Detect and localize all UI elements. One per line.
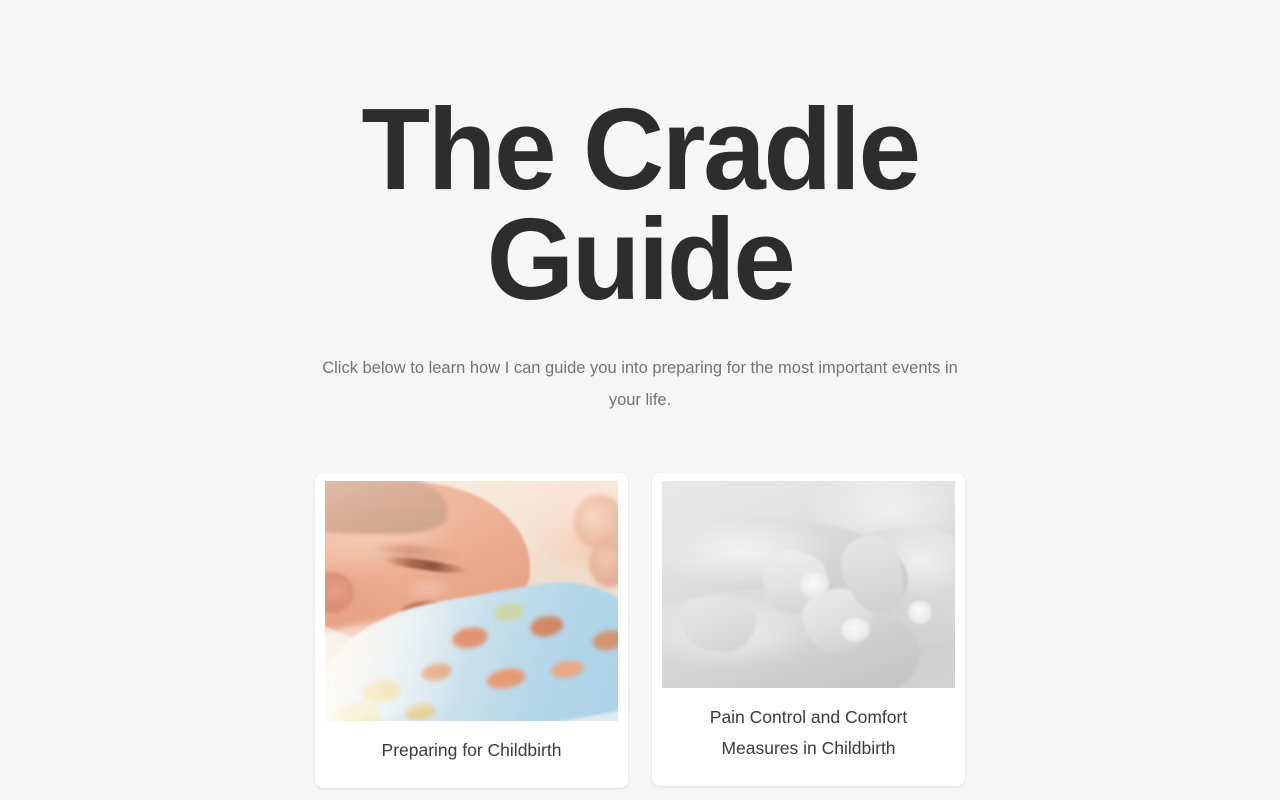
card-title: Pain Control and Comfort Measures in Chi… (662, 688, 955, 776)
card-pain-control-and-comfort-measures[interactable]: Pain Control and Comfort Measures in Chi… (652, 473, 965, 786)
hero-section: The Cradle Guide (0, 94, 1280, 314)
baby-hair-shape (325, 481, 448, 534)
holding-hands-photo[interactable] (662, 481, 955, 688)
page-root: The Cradle Guide Click below to learn ho… (0, 0, 1280, 800)
card-grid: Preparing for Childbirth (315, 473, 965, 788)
newborn-baby-photo-image (325, 481, 618, 721)
card-title: Preparing for Childbirth (325, 721, 618, 778)
fingernail-1 (800, 572, 829, 599)
hero-subtitle: Click below to learn how I can guide you… (310, 353, 970, 416)
holding-hands-photo-image (662, 481, 955, 688)
newborn-baby-photo[interactable] (325, 481, 618, 721)
fingernail-3 (908, 601, 931, 624)
page-title: The Cradle Guide (330, 94, 951, 314)
card-preparing-for-childbirth[interactable]: Preparing for Childbirth (315, 473, 628, 788)
